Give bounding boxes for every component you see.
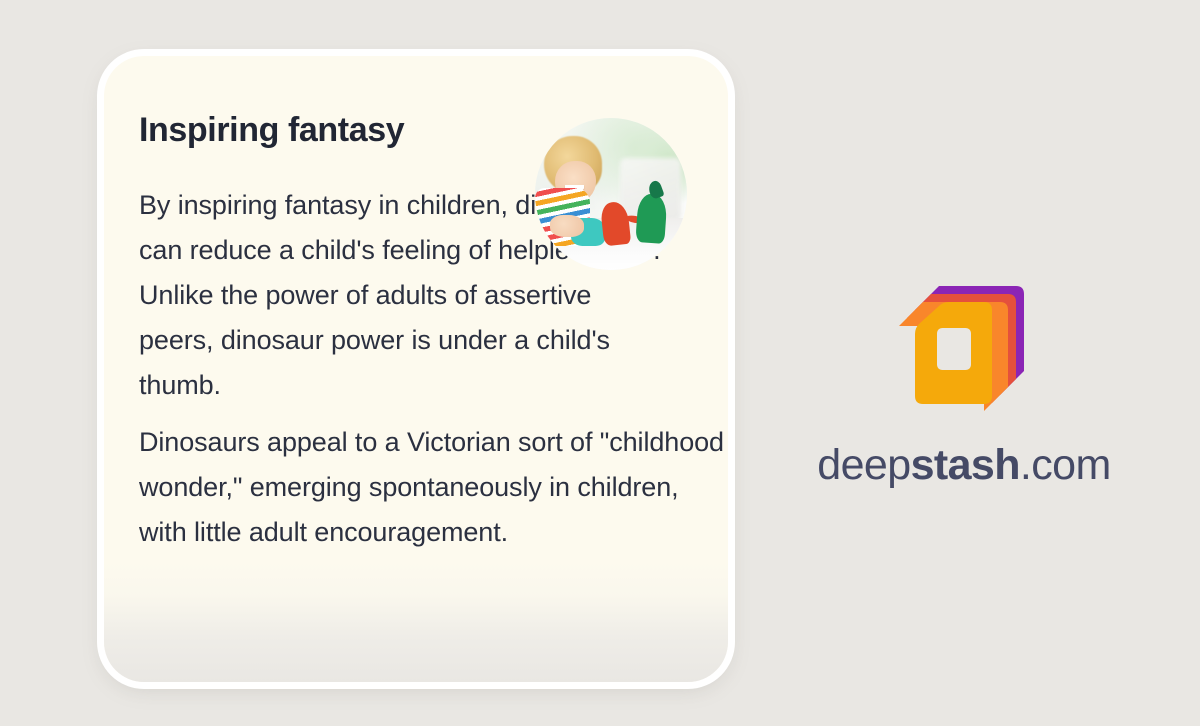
logo-center-cutout <box>937 328 971 370</box>
idea-photo <box>535 118 687 270</box>
page-title: Inspiring fantasy <box>139 112 539 149</box>
wordmark-tld: .com <box>1020 441 1111 489</box>
photo-child-arm <box>550 215 583 236</box>
deepstash-logo-icon <box>891 272 1037 418</box>
wordmark-deep: deep <box>817 441 910 489</box>
brand-block: deepstash.com <box>812 272 1116 487</box>
brand-wordmark: deepstash.com <box>812 444 1116 487</box>
wordmark-stash: stash <box>911 441 1020 489</box>
idea-card[interactable]: Inspiring fantasy By inspiring fantasy i… <box>104 56 728 682</box>
photo-green-dinosaur-toy <box>635 193 667 244</box>
idea-paragraph-2: Dinosaurs appeal to a Victorian sort of … <box>139 420 724 555</box>
